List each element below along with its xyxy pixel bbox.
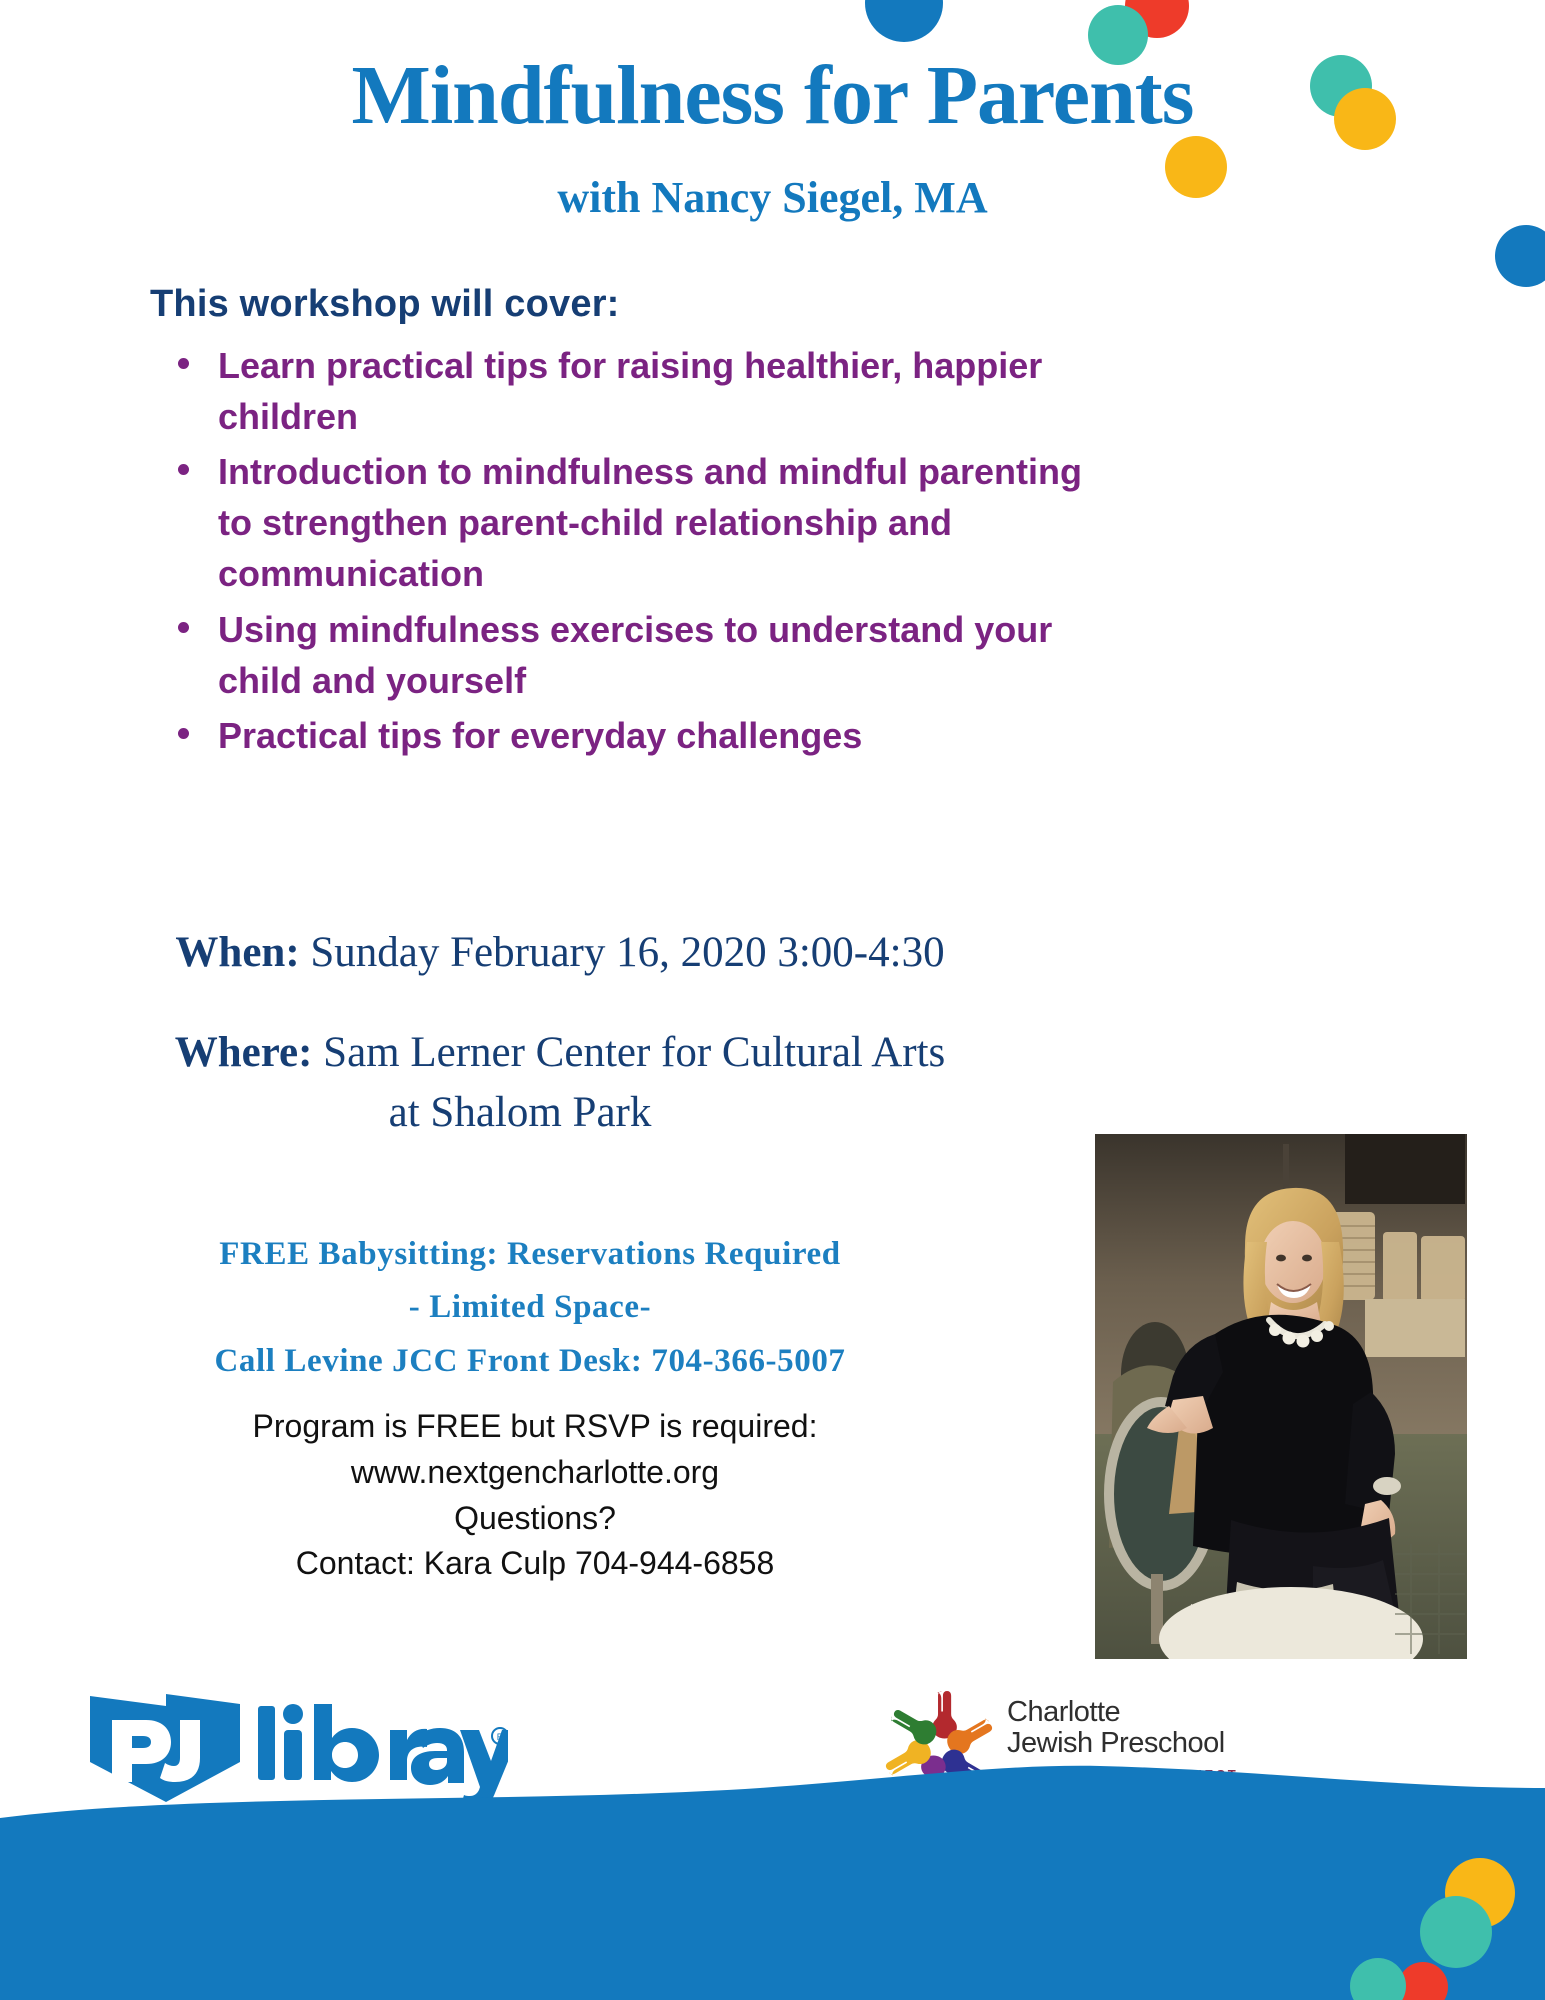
list-item: Using mindfulness exercises to understan… — [160, 604, 1120, 706]
babysitting-line-1: FREE Babysitting: Reservations Required — [0, 1228, 1060, 1281]
list-item: Learn practical tips for raising healthi… — [160, 340, 1120, 442]
list-item-label: Introduction to mindfulness and mindful … — [218, 451, 1082, 594]
list-item: Practical tips for everyday challenges — [160, 710, 1120, 761]
event-where-line: Where: Sam Lerner Center for Cultural Ar… — [0, 1028, 1120, 1077]
rsvp-line-1: Program is FREE but RSVP is required: — [0, 1404, 1070, 1450]
when-value: Sunday February 16, 2020 3:00-4:30 — [300, 929, 945, 976]
bullet-icon — [178, 728, 189, 739]
where-value: Sam Lerner Center for Cultural Arts — [312, 1029, 945, 1076]
workshop-bullet-list: Learn practical tips for raising healthi… — [160, 340, 1120, 765]
bullet-icon — [178, 358, 189, 369]
bullet-icon — [178, 464, 189, 475]
dot-blue-top — [865, 0, 943, 42]
event-when-line: When: Sunday February 16, 2020 3:00-4:30 — [0, 928, 1120, 977]
workshop-heading: This workshop will cover: — [150, 283, 620, 326]
list-item-label: Practical tips for everyday challenges — [218, 715, 862, 756]
where-label: Where: — [175, 1029, 313, 1076]
babysitting-line-3: Call Levine JCC Front Desk: 704-366-5007 — [0, 1335, 1060, 1388]
list-item: Introduction to mindfulness and mindful … — [160, 446, 1120, 599]
list-item-label: Using mindfulness exercises to understan… — [218, 609, 1052, 701]
babysitting-block: FREE Babysitting: Reservations Required … — [0, 1228, 1060, 1388]
rsvp-questions: Questions? — [0, 1496, 1070, 1542]
page-subtitle: with Nancy Siegel, MA — [0, 172, 1545, 223]
bottom-wave-band — [0, 1730, 1545, 2000]
dot-blue-edge — [1495, 225, 1545, 287]
page-title: Mindfulness for Parents — [0, 52, 1545, 140]
event-where-line-2: at Shalom Park — [0, 1088, 1040, 1137]
bullet-icon — [178, 622, 189, 633]
cjp-line-1: Charlotte — [1007, 1697, 1238, 1728]
speaker-photo — [1095, 1134, 1467, 1659]
rsvp-block: Program is FREE but RSVP is required: ww… — [0, 1404, 1070, 1587]
when-label: When: — [175, 929, 299, 976]
list-item-label: Learn practical tips for raising healthi… — [218, 345, 1042, 437]
rsvp-contact: Contact: Kara Culp 704-944-6858 — [0, 1541, 1070, 1587]
flyer-page: Mindfulness for Parents with Nancy Siege… — [0, 0, 1545, 2000]
dot-teal-band — [1420, 1896, 1492, 1968]
babysitting-line-2: - Limited Space- — [0, 1281, 1060, 1334]
rsvp-url[interactable]: www.nextgencharlotte.org — [0, 1450, 1070, 1496]
